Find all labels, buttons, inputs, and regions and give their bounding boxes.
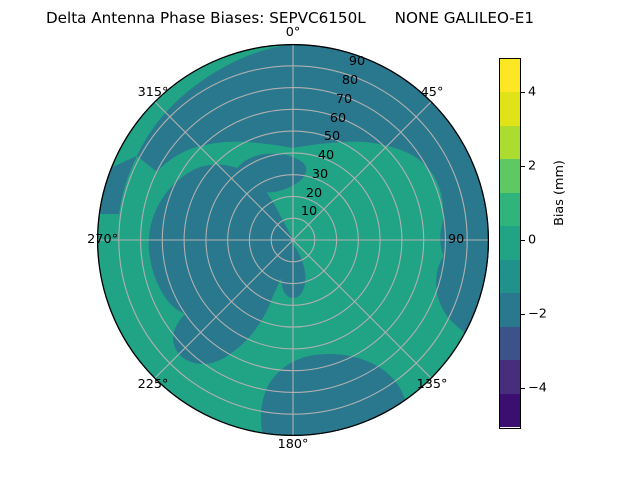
theta-label-0: 0° xyxy=(253,25,333,40)
r-label-50: 50 xyxy=(312,129,352,144)
colorbar-band-10 xyxy=(500,59,520,93)
r-label-20: 20 xyxy=(294,186,334,201)
colorbar-tick-2 xyxy=(521,166,525,167)
colorbar-tick-m2 xyxy=(521,314,525,315)
r-label-60: 60 xyxy=(318,111,358,126)
colorbar-band-2 xyxy=(500,327,520,361)
r-label-80: 80 xyxy=(330,73,370,88)
figure-canvas: Delta Antenna Phase Biases: SEPVC6150L N… xyxy=(0,0,640,480)
colorbar-band-0b xyxy=(500,394,520,428)
colorbar-ticklabel-2: 2 xyxy=(528,158,536,173)
colorbar-tick-0 xyxy=(521,240,525,241)
colorbar-band-3 xyxy=(500,293,520,327)
r-label-40: 40 xyxy=(306,148,346,163)
colorbar-tick-m4 xyxy=(521,388,525,389)
theta-label-270: 270° xyxy=(48,232,118,247)
colorbar-axis-label-text: Bias (mm) xyxy=(552,143,567,243)
theta-label-45: 45° xyxy=(392,85,472,100)
theta-label-180: 180° xyxy=(253,437,333,452)
r-label-90: 90 xyxy=(337,54,377,69)
colorbar-ticklabel-0: 0 xyxy=(528,233,536,248)
colorbar-band-6 xyxy=(500,193,520,227)
colorbar-band-9 xyxy=(500,92,520,126)
colorbar[interactable] xyxy=(499,58,521,429)
colorbar-axis-label: Bias (mm) xyxy=(540,43,555,143)
colorbar-band-8 xyxy=(500,126,520,160)
theta-label-315: 315° xyxy=(113,85,193,100)
colorbar-band-7 xyxy=(500,159,520,193)
colorbar-band-5 xyxy=(500,226,520,260)
colorbar-ticklabel-m4: −4 xyxy=(528,381,547,396)
colorbar-band-4 xyxy=(500,260,520,294)
r-label-30: 30 xyxy=(300,167,340,182)
colorbar-band-1 xyxy=(500,360,520,394)
theta-label-225: 225° xyxy=(113,377,193,392)
r-label-70: 70 xyxy=(324,92,364,107)
colorbar-ticklabel-4: 4 xyxy=(528,84,536,99)
colorbar-tick-4 xyxy=(521,92,525,93)
r-label-10: 10 xyxy=(289,204,329,219)
theta-label-135: 135° xyxy=(392,377,472,392)
colorbar-ticklabel-m2: −2 xyxy=(528,307,547,322)
